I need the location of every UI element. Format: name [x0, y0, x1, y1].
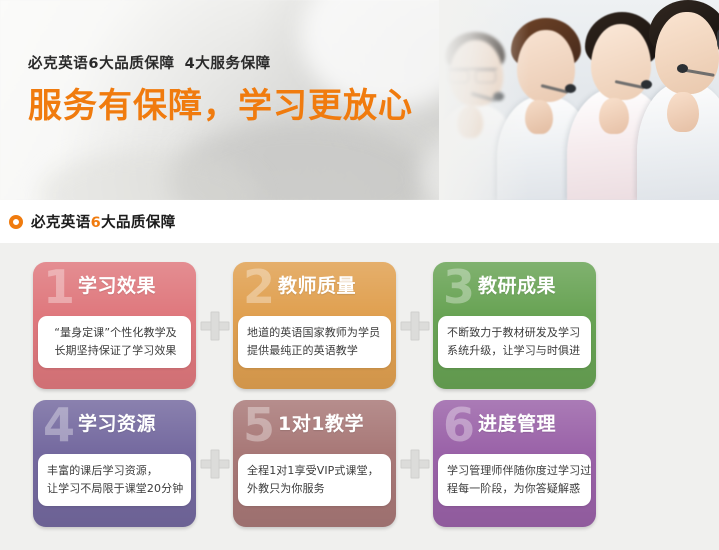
card-title: 教研成果	[478, 266, 556, 306]
card-header: 1 学习效果	[33, 262, 196, 314]
card-description-line: 外教只为你服务	[247, 480, 384, 498]
card-header: 6 进度管理	[433, 400, 596, 452]
banner-subtitle-part1: 必克英语6大品质保障	[28, 56, 175, 72]
card-header: 5 1对1教学	[233, 400, 396, 452]
section-title-suffix: 大品质保障	[101, 215, 176, 231]
quality-cards-section: 1 学习效果 “量身定课”个性化教学及 长期坚持保证了学习效果	[0, 243, 719, 550]
plus-separator	[396, 400, 433, 527]
card-cell: 3 教研成果 不断致力于教材研发及学习 系统升级，让学习与时俱进	[433, 262, 596, 402]
banner-subtitle-part2: 4大服务保障	[185, 56, 271, 72]
card-description-box: “量身定课”个性化教学及 长期坚持保证了学习效果	[38, 316, 191, 368]
card-description-box: 不断致力于教材研发及学习 系统升级，让学习与时俱进	[438, 316, 591, 368]
card-title: 学习资源	[78, 404, 156, 444]
card-description-line: 学习管理师伴随你度过学习过	[447, 462, 584, 480]
card-description-line: 程每一阶段，为你答疑解惑	[447, 480, 584, 498]
banner-title: 服务有保障，学习更放心	[28, 87, 413, 125]
ring-bullet-icon	[9, 215, 23, 229]
quality-card-1[interactable]: 1 学习效果 “量身定课”个性化教学及 长期坚持保证了学习效果	[33, 262, 196, 389]
card-cell: 5 1对1教学 全程1对1享受VIP式课堂， 外教只为你服务	[233, 400, 396, 540]
page-root: 必克英语6大品质保障4大服务保障 服务有保障，学习更放心 必克英语6大品质保障 …	[0, 0, 719, 550]
quality-card-2[interactable]: 2 教师质量 地道的英语国家教师为学员 提供最纯正的英语教学	[233, 262, 396, 389]
card-description-box: 丰富的课后学习资源， 让学习不局限于课堂20分钟	[38, 454, 191, 506]
card-title: 教师质量	[278, 266, 356, 306]
card-description-box: 地道的英语国家教师为学员 提供最纯正的英语教学	[238, 316, 391, 368]
card-description-line: 不断致力于教材研发及学习	[447, 324, 584, 342]
card-title: 学习效果	[78, 266, 156, 306]
card-description-line: 丰富的课后学习资源，	[47, 462, 184, 480]
quality-card-5[interactable]: 5 1对1教学 全程1对1享受VIP式课堂， 外教只为你服务	[233, 400, 396, 527]
card-description-box: 学习管理师伴随你度过学习过 程每一阶段，为你答疑解惑	[438, 454, 591, 506]
card-description-line: 长期坚持保证了学习效果	[47, 342, 184, 360]
card-number: 5	[243, 404, 274, 446]
plus-separator	[196, 262, 233, 389]
card-cell: 6 进度管理 学习管理师伴随你度过学习过 程每一阶段，为你答疑解惑	[433, 400, 596, 540]
quality-card-6[interactable]: 6 进度管理 学习管理师伴随你度过学习过 程每一阶段，为你答疑解惑	[433, 400, 596, 527]
card-description-line: “量身定课”个性化教学及	[47, 324, 184, 342]
plus-separator	[396, 262, 433, 389]
card-cell: 4 学习资源 丰富的课后学习资源， 让学习不局限于课堂20分钟	[33, 400, 196, 540]
card-row: 1 学习效果 “量身定课”个性化教学及 长期坚持保证了学习效果	[0, 262, 719, 402]
section-title-highlight: 6	[91, 215, 102, 231]
agent-figure	[637, 0, 719, 200]
card-number: 1	[43, 266, 74, 308]
card-description-line: 提供最纯正的英语教学	[247, 342, 384, 360]
card-header: 2 教师质量	[233, 262, 396, 314]
card-header: 4 学习资源	[33, 400, 196, 452]
card-title: 进度管理	[478, 404, 556, 444]
card-description-line: 全程1对1享受VIP式课堂，	[247, 462, 384, 480]
card-number: 6	[443, 404, 474, 446]
card-row: 4 学习资源 丰富的课后学习资源， 让学习不局限于课堂20分钟	[0, 400, 719, 540]
card-description-line: 让学习不局限于课堂20分钟	[47, 480, 184, 498]
card-number: 3	[443, 266, 474, 308]
plus-separator-icon	[200, 449, 229, 478]
card-description-line: 系统升级，让学习与时俱进	[447, 342, 584, 360]
card-description-box: 全程1对1享受VIP式课堂， 外教只为你服务	[238, 454, 391, 506]
plus-separator-icon	[400, 449, 429, 478]
hero-banner: 必克英语6大品质保障4大服务保障 服务有保障，学习更放心	[0, 0, 719, 200]
photo-left-fade	[439, 0, 529, 200]
plus-separator-icon	[200, 311, 229, 340]
plus-separator-icon	[400, 311, 429, 340]
banner-subtitle: 必克英语6大品质保障4大服务保障	[28, 52, 413, 73]
section-title-prefix: 必克英语	[31, 215, 91, 231]
card-number: 4	[43, 404, 74, 446]
card-cell: 2 教师质量 地道的英语国家教师为学员 提供最纯正的英语教学	[233, 262, 396, 402]
headset-mic-icon	[677, 64, 688, 73]
quality-card-4[interactable]: 4 学习资源 丰富的课后学习资源， 让学习不局限于课堂20分钟	[33, 400, 196, 527]
card-title: 1对1教学	[278, 404, 364, 444]
quality-card-3[interactable]: 3 教研成果 不断致力于教材研发及学习 系统升级，让学习与时俱进	[433, 262, 596, 389]
plus-separator	[196, 400, 233, 527]
card-header: 3 教研成果	[433, 262, 596, 314]
card-number: 2	[243, 266, 274, 308]
section-title: 必克英语6大品质保障	[31, 211, 176, 232]
customer-service-team-photo	[439, 0, 719, 200]
card-description-line: 地道的英语国家教师为学员	[247, 324, 384, 342]
banner-text-block: 必克英语6大品质保障4大服务保障 服务有保障，学习更放心	[28, 52, 413, 125]
section-header: 必克英语6大品质保障	[0, 200, 719, 243]
card-cell: 1 学习效果 “量身定课”个性化教学及 长期坚持保证了学习效果	[33, 262, 196, 402]
